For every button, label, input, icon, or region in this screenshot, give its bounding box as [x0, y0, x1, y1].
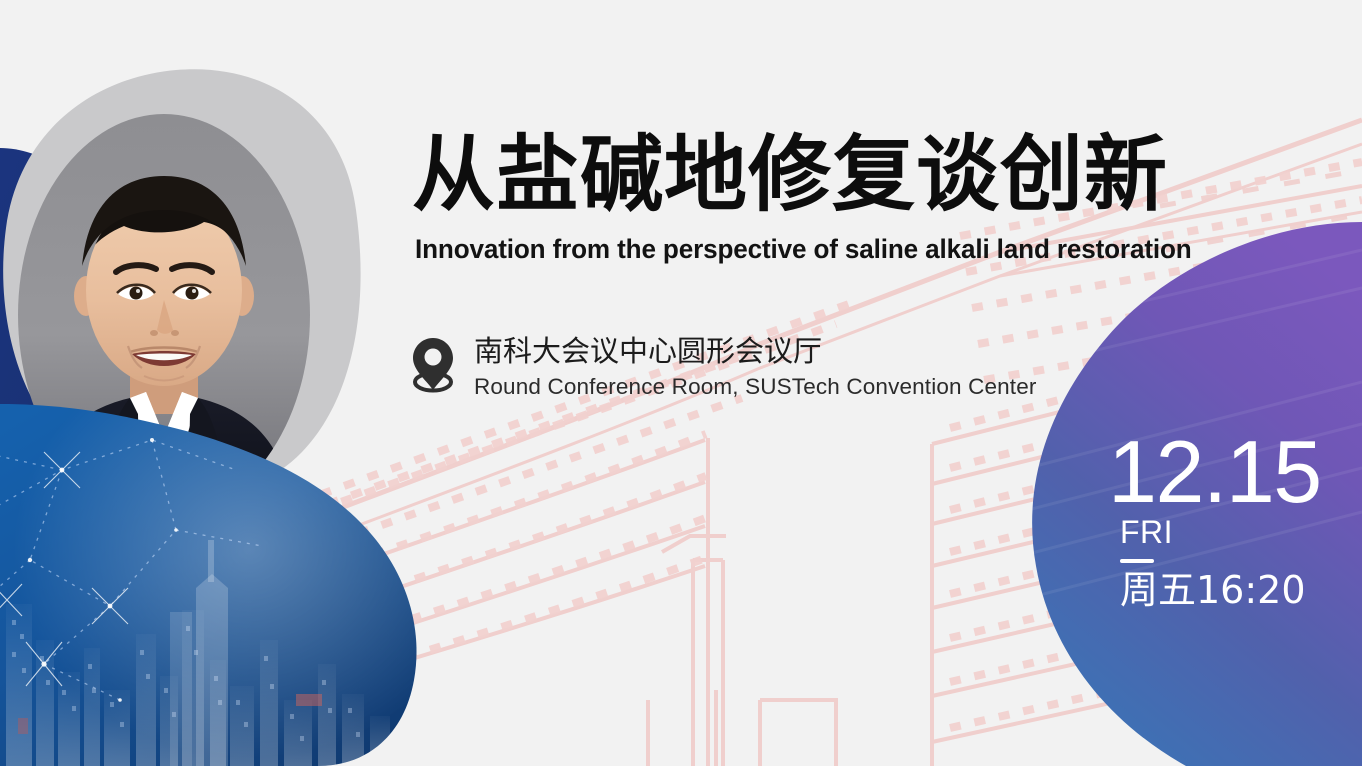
date-badge: 12.15 FRI 周五16:20 — [1108, 430, 1348, 612]
date-divider — [1120, 559, 1154, 563]
event-date: 12.15 — [1108, 430, 1348, 514]
event-weekday-en: FRI — [1120, 516, 1348, 550]
venue-name-cn: 南科大会议中心圆形会议厅 — [474, 333, 1037, 370]
location-pin-icon — [410, 336, 456, 394]
venue-name-en: Round Conference Room, SUSTech Conventio… — [474, 374, 1037, 400]
page-title: 从盐碱地修复谈创新 — [412, 130, 1212, 220]
event-poster: 从盐碱地修复谈创新 Innovation from the perspectiv… — [0, 0, 1362, 766]
page-subtitle: Innovation from the perspective of salin… — [415, 234, 1200, 265]
title-block: 从盐碱地修复谈创新 Innovation from the perspectiv… — [412, 130, 1212, 265]
venue-block: 南科大会议中心圆形会议厅 Round Conference Room, SUST… — [410, 333, 1037, 400]
venue-text: 南科大会议中心圆形会议厅 Round Conference Room, SUST… — [474, 333, 1037, 400]
event-weekday-time-cn: 周五16:20 — [1120, 569, 1348, 612]
